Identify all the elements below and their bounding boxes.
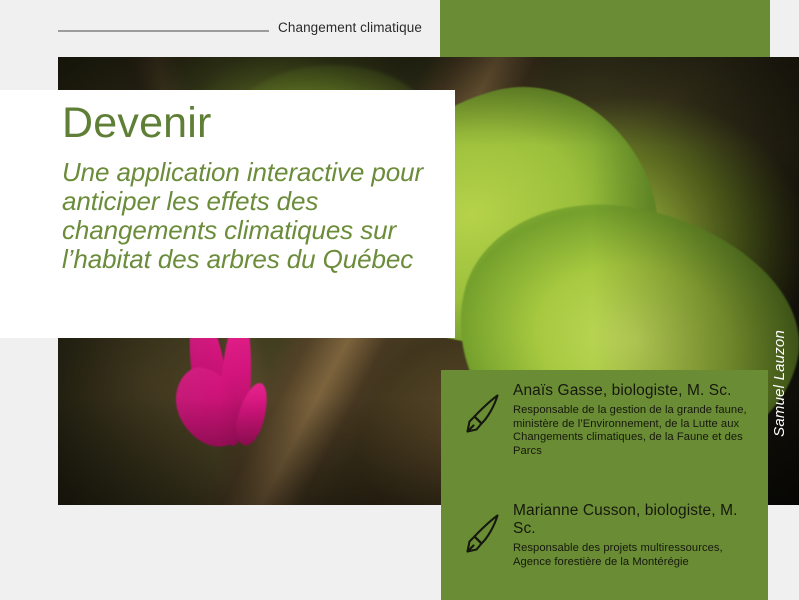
- header-rule: [58, 30, 269, 32]
- page-title: Devenir: [62, 102, 212, 145]
- speaker-name: Marianne Cusson, biologiste, M. Sc.: [513, 502, 761, 538]
- speaker-name: Anaïs Gasse, biologiste, M. Sc.: [513, 382, 761, 400]
- speaker-role: Responsable des projets multiressources,…: [513, 542, 761, 569]
- page-subtitle: Une application interactive pour anticip…: [62, 158, 442, 274]
- photo-credit: Samuel Lauzon: [771, 330, 788, 437]
- speaker-role: Responsable de la gestion de la grande f…: [513, 404, 761, 459]
- title-card: Devenir Une application interactive pour…: [0, 90, 455, 338]
- quill-pen-icon: [461, 512, 503, 562]
- slide-canvas: Changement climatique Samuel Lauzon Deve…: [0, 0, 799, 600]
- green-accent-band-top: [440, 0, 770, 57]
- speakers-panel: Anaïs Gasse, biologiste, M. Sc. Responsa…: [441, 370, 768, 600]
- header-kicker: Changement climatique: [278, 20, 422, 35]
- quill-pen-icon: [461, 392, 503, 442]
